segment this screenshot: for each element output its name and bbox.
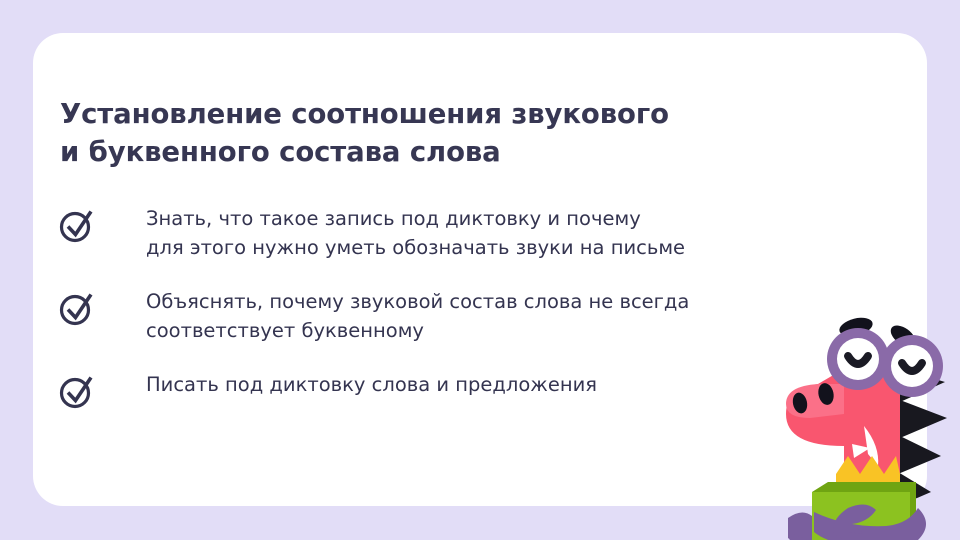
check-circle-icon [58, 371, 98, 411]
list-item-line-1: Писать под диктовку слова и предложения [146, 371, 848, 400]
list-item-text: Писать под диктовку слова и предложения [146, 371, 848, 400]
list-item-text: Объяснять, почему звуковой состав слова … [146, 288, 848, 345]
check-circle-icon [58, 205, 98, 245]
dinosaur-with-book-mascot [748, 296, 960, 540]
title-line-1: Установление соотношения звукового [60, 95, 820, 133]
title-line-2: и буквенного состава слова [60, 133, 820, 171]
objectives-list: Знать, что такое запись под диктовку и п… [58, 205, 848, 411]
page-title: Установление соотношения звукового и бук… [60, 95, 820, 171]
list-item-line-2: для этого нужно уметь обозначать звуки н… [146, 234, 848, 263]
list-item-line-1: Объяснять, почему звуковой состав слова … [146, 288, 848, 317]
list-item: Объяснять, почему звуковой состав слова … [58, 288, 848, 345]
list-item-line-1: Знать, что такое запись под диктовку и п… [146, 205, 848, 234]
slide-root: Установление соотношения звукового и бук… [0, 0, 960, 540]
list-item-text: Знать, что такое запись под диктовку и п… [146, 205, 848, 262]
list-item: Писать под диктовку слова и предложения [58, 371, 848, 411]
list-item: Знать, что такое запись под диктовку и п… [58, 205, 848, 262]
list-item-line-2: соответствует буквенному [146, 317, 848, 346]
check-circle-icon [58, 288, 98, 328]
